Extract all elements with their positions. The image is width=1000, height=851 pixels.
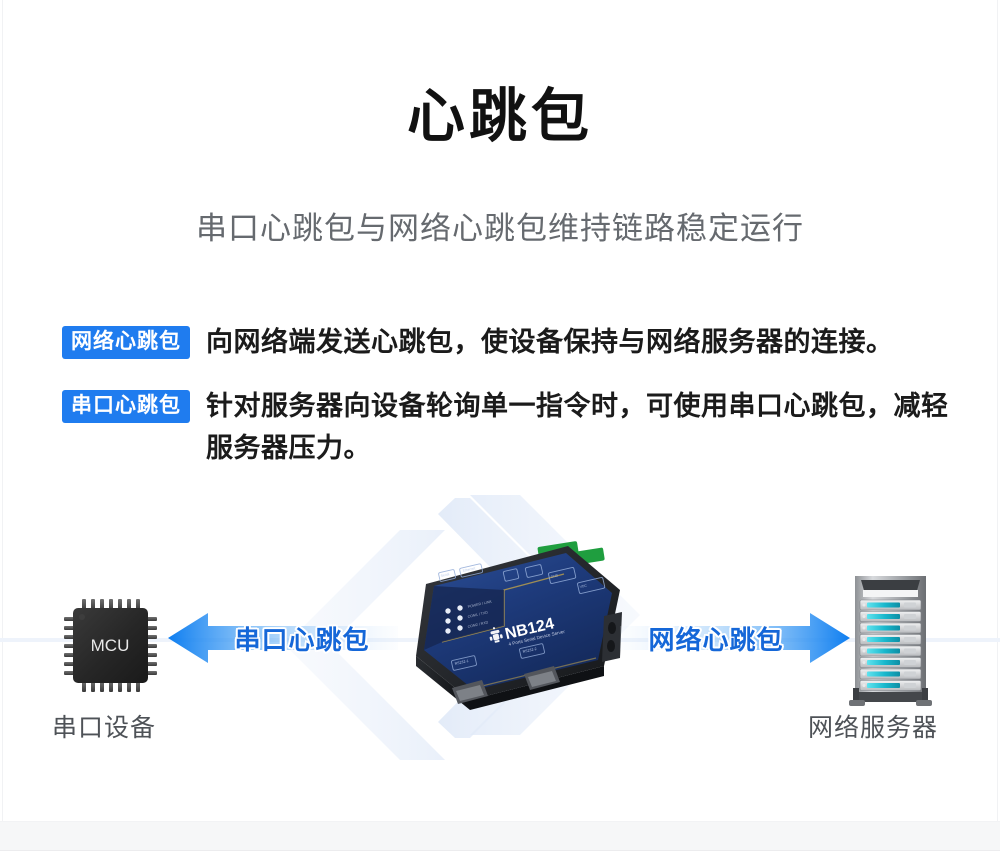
left-node-mcu: MCU (58, 593, 163, 698)
feature-badge-serial-heartbeat: 串口心跳包 (62, 390, 190, 423)
feature-item-network-heartbeat: 网络心跳包 向网络端发送心跳包，使设备保持与网络服务器的连接。 (62, 322, 960, 364)
center-device-nb124: POWER / LINK COM1 / TXD COM2 / RXD Seria… (408, 538, 633, 713)
feature-item-serial-heartbeat: 串口心跳包 针对服务器向设备轮询单一指令时，可使用串口心跳包，减轻服务器压力。 (62, 386, 960, 470)
arrow-serial-heartbeat-label: 串口心跳包 (168, 608, 398, 668)
serial-device-server-icon: POWER / LINK COM1 / TXD COM2 / RXD Seria… (408, 538, 633, 713)
page-title: 心跳包 (0, 82, 1000, 152)
mcu-chip-label: MCU (91, 636, 130, 655)
left-node-caption: 串口设备 (52, 708, 156, 744)
feature-badge-network-heartbeat: 网络心跳包 (62, 326, 190, 359)
mcu-chip-icon: MCU (58, 593, 163, 698)
arrow-network-heartbeat: 网络心跳包 (620, 608, 850, 668)
svg-text:Serial: Serial (440, 572, 450, 578)
arrow-network-heartbeat-label: 网络心跳包 (620, 608, 850, 668)
feature-description-network-heartbeat: 向网络端发送心跳包，使设备保持与网络服务器的连接。 (206, 322, 894, 364)
feature-description-serial-heartbeat: 针对服务器向设备轮询单一指令时，可使用串口心跳包，减轻服务器压力。 (206, 386, 960, 470)
right-node-caption: 网络服务器 (808, 708, 938, 744)
right-node-server (843, 570, 938, 710)
arrow-serial-heartbeat: 串口心跳包 (168, 608, 398, 668)
page-subtitle: 串口心跳包与网络心跳包维持链路稳定运行 (0, 203, 1000, 248)
footer-band (0, 821, 1000, 851)
feature-list: 网络心跳包 向网络端发送心跳包，使设备保持与网络服务器的连接。 串口心跳包 针对… (62, 322, 960, 492)
network-topology-diagram: MCU 串口设备 串口心跳包 (0, 490, 1000, 780)
product-feature-page: 心跳包 串口心跳包与网络心跳包维持链路稳定运行 网络心跳包 向网络端发送心跳包，… (0, 0, 1000, 851)
server-rack-icon (843, 570, 938, 710)
